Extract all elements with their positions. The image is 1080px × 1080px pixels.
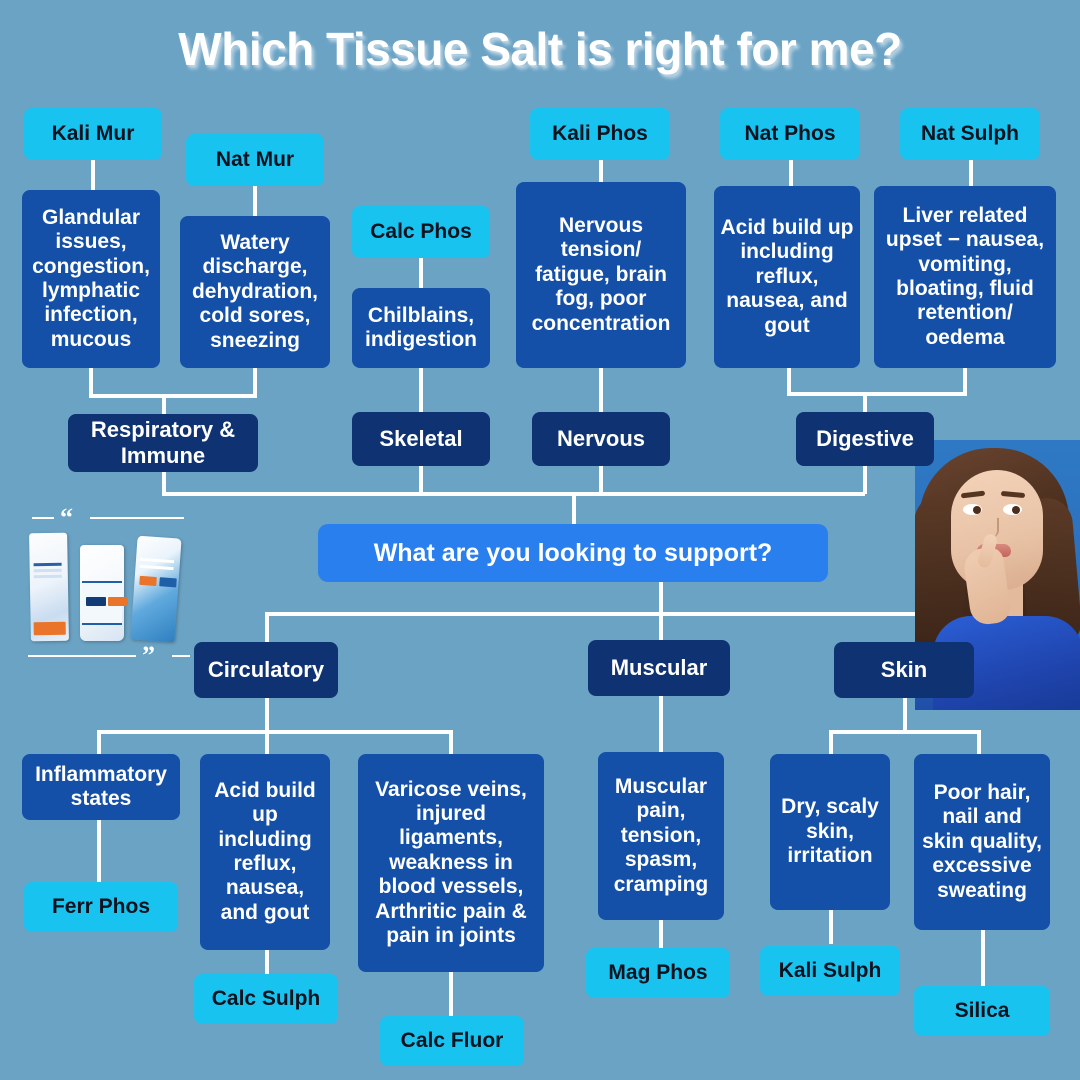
connector-nat-mur bbox=[253, 186, 257, 216]
eye-left-icon bbox=[963, 504, 982, 515]
symptom-box-dry-skin[interactable]: Dry, scaly skin, irritation bbox=[770, 754, 890, 910]
symptom-box-nat-sulph[interactable]: Liver related upset − nausea, vomiting, … bbox=[874, 186, 1056, 368]
connector-calc-phos bbox=[419, 258, 423, 288]
salt-box-nat-sulph[interactable]: Nat Sulph bbox=[900, 108, 1040, 160]
connector-mag-phos bbox=[659, 920, 663, 948]
salt-box-calc-fluor[interactable]: Calc Fluor bbox=[380, 1016, 524, 1066]
connector-resp-down bbox=[162, 394, 166, 416]
connector-cat-dig-down bbox=[863, 466, 867, 494]
category-box-circulatory[interactable]: Circulatory bbox=[194, 642, 338, 698]
connector-nat-sulph bbox=[969, 160, 973, 186]
infographic-canvas: Which Tissue Salt is right for me? Kali … bbox=[0, 0, 1080, 1080]
connector-skin-bus bbox=[829, 730, 981, 734]
question-box[interactable]: What are you looking to support? bbox=[318, 524, 828, 582]
salt-box-kali-mur[interactable]: Kali Mur bbox=[24, 108, 162, 160]
connector-circ-down bbox=[265, 698, 269, 732]
connector-dig-b bbox=[963, 368, 967, 394]
page-title: Which Tissue Salt is right for me? bbox=[0, 22, 1080, 76]
connector-kali-phos bbox=[599, 160, 603, 182]
connector-skeletal bbox=[419, 368, 423, 412]
connector-calc-sulph bbox=[265, 950, 269, 974]
product-carton-icon bbox=[29, 533, 69, 642]
connector-cat-resp-down bbox=[162, 472, 166, 494]
connector-dig-bus bbox=[787, 392, 967, 396]
category-box-skin[interactable]: Skin bbox=[834, 642, 974, 698]
connector-kali-sulph bbox=[829, 910, 833, 944]
connector-skin-a bbox=[829, 730, 833, 756]
connector-nat-phos bbox=[789, 160, 793, 186]
salt-box-mag-phos[interactable]: Mag Phos bbox=[586, 948, 730, 998]
connector-nervous bbox=[599, 368, 603, 412]
connector-dig-a bbox=[787, 368, 791, 394]
connector-circ-bus bbox=[97, 730, 453, 734]
connector-silica bbox=[981, 930, 985, 986]
connector-ferr-phos bbox=[97, 820, 101, 882]
connector-cat-nerv-down bbox=[599, 466, 603, 494]
symptom-box-circ-acid[interactable]: Acid build up including reflux, nausea, … bbox=[200, 754, 330, 950]
symptom-box-nat-mur[interactable]: Watery discharge, dehydration, cold sore… bbox=[180, 216, 330, 368]
connector-skin-b bbox=[977, 730, 981, 756]
connector-circ-b bbox=[265, 730, 269, 756]
eye-right-icon bbox=[1003, 504, 1022, 515]
connector-skin-down bbox=[903, 698, 907, 732]
quote-rule-right-top bbox=[90, 517, 184, 519]
connector-circ-a bbox=[97, 730, 101, 756]
connector-dig-down bbox=[863, 392, 867, 414]
category-box-digestive[interactable]: Digestive bbox=[796, 412, 934, 466]
category-box-respiratory-immune[interactable]: Respiratory & Immune bbox=[68, 414, 258, 472]
quote-rule-right-bottom bbox=[172, 655, 190, 657]
symptom-box-kali-phos[interactable]: Nervous tension/ fatigue, brain fog, poo… bbox=[516, 182, 686, 368]
connector-cat-skel-down bbox=[419, 466, 423, 494]
connector-musc-down bbox=[659, 696, 663, 752]
connector-question-down bbox=[659, 582, 663, 614]
symptom-box-muscular-pain[interactable]: Muscular pain, tension, spasm, cramping bbox=[598, 752, 724, 920]
connector-top-bus bbox=[162, 492, 865, 496]
symptom-box-calc-phos[interactable]: Chilblains, indigestion bbox=[352, 288, 490, 368]
connector-circ-c bbox=[449, 730, 453, 756]
connector-calc-fluor bbox=[449, 972, 453, 1016]
symptom-box-inflammatory[interactable]: Inflammatory states bbox=[22, 754, 180, 820]
category-box-skeletal[interactable]: Skeletal bbox=[352, 412, 490, 466]
symptom-box-nat-phos[interactable]: Acid build up including reflux, nausea, … bbox=[714, 186, 860, 368]
quote-rule-left-top bbox=[32, 517, 54, 519]
connector-to-circulatory bbox=[265, 612, 269, 644]
close-quote-icon: ” bbox=[142, 643, 155, 669]
salt-box-nat-phos[interactable]: Nat Phos bbox=[720, 108, 860, 160]
connector-kali-mur bbox=[91, 160, 95, 190]
connector-resp-b bbox=[253, 368, 257, 396]
category-box-muscular[interactable]: Muscular bbox=[588, 640, 730, 696]
salt-box-silica[interactable]: Silica bbox=[914, 986, 1050, 1036]
category-box-nervous[interactable]: Nervous bbox=[532, 412, 670, 466]
product-photo: “ ” bbox=[22, 505, 192, 670]
product-cream-tube-icon bbox=[130, 536, 181, 643]
salt-box-ferr-phos[interactable]: Ferr Phos bbox=[24, 882, 178, 932]
salt-box-kali-phos[interactable]: Kali Phos bbox=[530, 108, 670, 160]
salt-box-calc-sulph[interactable]: Calc Sulph bbox=[194, 974, 338, 1024]
salt-box-nat-mur[interactable]: Nat Mur bbox=[186, 134, 324, 186]
connector-bus-to-question bbox=[572, 492, 576, 524]
salt-box-calc-phos[interactable]: Calc Phos bbox=[352, 206, 490, 258]
symptom-box-kali-mur[interactable]: Glandular issues, congestion, lymphatic … bbox=[22, 190, 160, 368]
salt-box-kali-sulph[interactable]: Kali Sulph bbox=[760, 946, 900, 996]
product-bottle-icon bbox=[80, 545, 124, 641]
connector-bottom-bus bbox=[265, 612, 921, 616]
symptom-box-poor-hair[interactable]: Poor hair, nail and skin quality, excess… bbox=[914, 754, 1050, 930]
symptom-box-varicose[interactable]: Varicose veins, injured ligaments, weakn… bbox=[358, 754, 544, 972]
connector-resp-a bbox=[89, 368, 93, 396]
quote-rule-left-bottom bbox=[28, 655, 136, 657]
connector-resp-bus bbox=[89, 394, 257, 398]
product-image bbox=[24, 527, 190, 647]
